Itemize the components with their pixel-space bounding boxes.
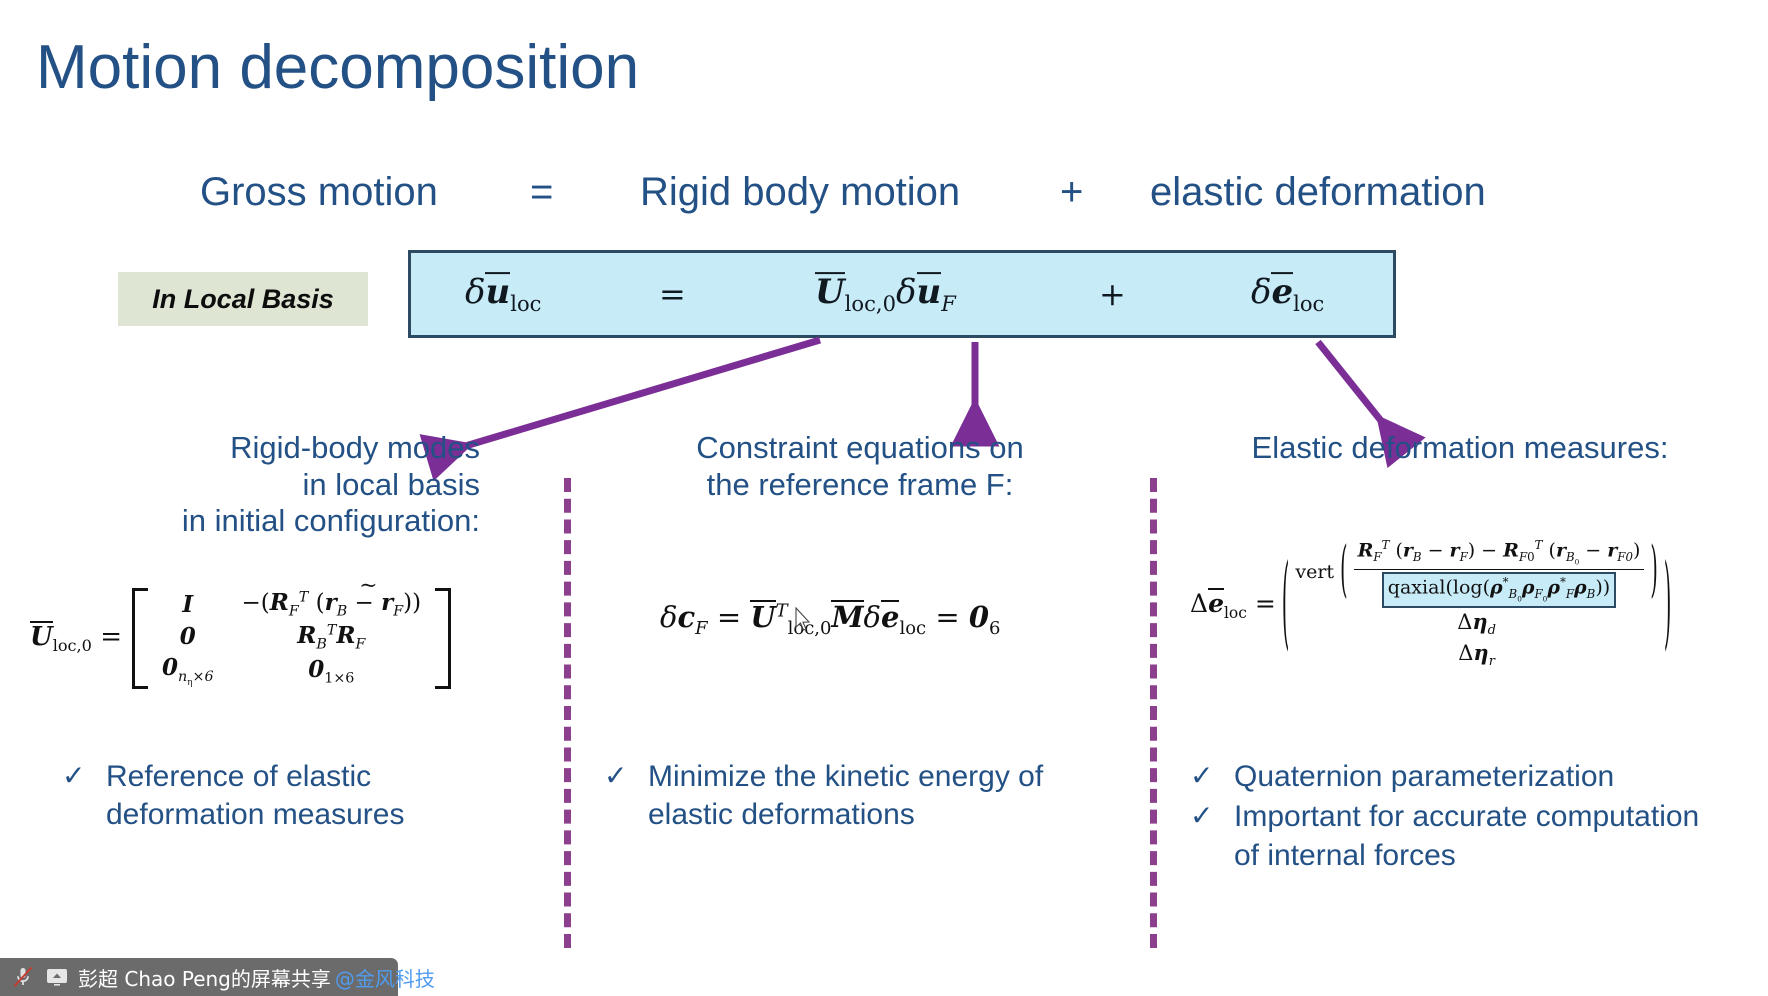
column-2-heading-line-2: the reference frame F:	[660, 467, 1060, 504]
column-1-heading-line-1: Rigid-body modes	[60, 430, 480, 467]
bullet-text: Reference of elastic deformation measure…	[106, 758, 532, 835]
main-equation-rhs-rigid: Uloc,0δuF	[815, 272, 956, 316]
column-3-row-3: Δηr	[1295, 639, 1657, 671]
column-2-formula: δcF = UTloc,0Mδeloc = 06 δc_F = Ū_loc,0^…	[660, 600, 1000, 639]
headline-elastic-deformation: elastic deformation	[1150, 170, 1570, 215]
bullet-text: Minimize the kinetic energy of elastic d…	[648, 758, 1094, 835]
column-1-formula-plain: Ū_loc,0 = [ I , −(R_F^T (r_B − r_F))~ ; …	[451, 588, 452, 589]
column-3-heading-line-1: Elastic deformation measures:	[1200, 430, 1720, 467]
in-local-basis-tag: In Local Basis	[118, 272, 368, 326]
column-3-bullets: ✓ Quaternion parameterization ✓ Importan…	[1190, 758, 1720, 877]
bullet-text: Important for accurate computation of in…	[1234, 798, 1720, 875]
column-3-heading: Elastic deformation measures:	[1200, 430, 1720, 467]
column-3-row-2: Δηd	[1295, 608, 1657, 640]
column-1-heading-line-2: in local basis	[60, 467, 480, 504]
column-1-heading-line-3: in initial configuration:	[60, 503, 480, 540]
list-item: ✓ Quaternion parameterization	[1190, 758, 1720, 796]
check-icon: ✓	[1190, 758, 1234, 794]
column-3-highlighted-denominator: qaxial(log(ρ*B0ρF0ρ*FρB))	[1382, 572, 1616, 607]
headline-plus: +	[1060, 170, 1150, 215]
headline-rigid-body-motion: Rigid body motion	[640, 170, 1060, 215]
check-icon: ✓	[62, 758, 106, 794]
column-1-heading: Rigid-body modes in local basis in initi…	[60, 430, 480, 540]
screen-share-icon[interactable]	[44, 964, 70, 990]
column-2-formula-plain: δc_F = Ū_loc,0^T M̄ δē_loc = 0_6	[1000, 600, 1001, 601]
column-divider-2	[1150, 478, 1157, 948]
column-1-bullets: ✓ Reference of elastic deformation measu…	[62, 758, 532, 837]
list-item: ✓ Minimize the kinetic energy of elastic…	[604, 758, 1094, 835]
presentation-slide: Motion decomposition Gross motion=Rigid …	[0, 0, 1768, 996]
headline-row: Gross motion=Rigid body motion+elastic d…	[200, 170, 1620, 215]
column-divider-1	[564, 478, 571, 948]
column-3-numerator: RFT (rB − rF) − RF0T (rB0 − rF0)	[1354, 538, 1645, 570]
column-1-formula: Uloc,0 =I−(RFT ~(rB − rF))0RBTRF0nη×601×…	[30, 588, 451, 689]
microphone-muted-icon[interactable]	[10, 964, 36, 990]
check-icon: ✓	[1190, 798, 1234, 834]
main-equation-plus: +	[1099, 275, 1126, 313]
headline-equals: =	[530, 170, 640, 215]
check-icon: ✓	[604, 758, 648, 794]
main-equation-plain: δū_loc = Ū_loc,0 δū_F + δē_loc	[411, 253, 412, 254]
main-equation-rhs-elastic: δeloc	[1251, 272, 1324, 316]
column-3-formula-plain: Δē_loc = ( vert( (R_F^T (r_B − r_F) − R_…	[1671, 538, 1672, 539]
page-title: Motion decomposition	[36, 32, 639, 103]
column-3-formula: Δeloc = ( vert ( RFT (rB − rF) − RF0T (r…	[1190, 538, 1671, 671]
share-org-label: @金风科技	[335, 963, 435, 992]
list-item: ✓ Reference of elastic deformation measu…	[62, 758, 532, 835]
column-2-heading-line-1: Constraint equations on	[660, 430, 1060, 467]
main-equation-box: δuloc = Uloc,0δuF + δeloc δū_loc = Ū_loc…	[408, 250, 1396, 338]
main-equation-equals: =	[659, 275, 686, 313]
arrow-to-elastic-measures	[1318, 342, 1390, 432]
screen-share-taskbar[interactable]: 彭超 Chao Peng的屏幕共享 @金风科技	[0, 958, 398, 996]
share-label: 彭超 Chao Peng的屏幕共享	[78, 963, 331, 992]
column-2-bullets: ✓ Minimize the kinetic energy of elastic…	[604, 758, 1094, 837]
headline-gross-motion: Gross motion	[200, 170, 530, 215]
main-equation-lhs: δuloc	[465, 272, 541, 316]
bullet-text: Quaternion parameterization	[1234, 758, 1720, 796]
column-2-heading: Constraint equations on the reference fr…	[660, 430, 1060, 503]
list-item: ✓ Important for accurate computation of …	[1190, 798, 1720, 875]
